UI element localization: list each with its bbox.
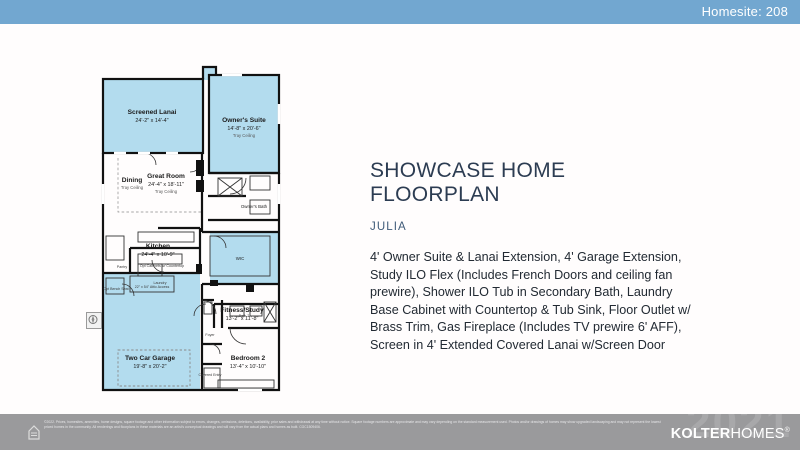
note-opt-bench-seat: Opt Bench Seat xyxy=(103,287,128,291)
room-label-kitchen: Kitchen xyxy=(146,243,170,250)
slide-content-area: Screened Lanai 24'-2" x 14'-4" Owner's S… xyxy=(0,24,800,414)
note-opt-cabinets: Opt Cabinets w/ Countertop xyxy=(140,264,184,268)
room-label-screened-lanai: Screened Lanai xyxy=(128,109,177,116)
footer-disclaimer-text: ©2022. Prices, homesites, amenities, hom… xyxy=(44,420,664,429)
compass-icon xyxy=(86,312,102,329)
room-label-two-car-garage: Two Car Garage xyxy=(125,355,175,362)
brand-light-text: HOMES xyxy=(730,426,784,442)
room-dim-owners-suite: 14'-8" x 20'-6" xyxy=(227,126,260,132)
room-label-fitness-study: Fitness/Study xyxy=(220,307,264,314)
room-label-dining: Dining xyxy=(122,177,143,184)
brand-bold-text: KOLTER xyxy=(671,426,731,442)
homesite-label: Homesite: 208 xyxy=(702,4,788,19)
equal-housing-icon xyxy=(28,422,40,442)
brand-trademark-symbol: ® xyxy=(785,427,790,434)
note-attic-access: 22" x 54" Attic Access xyxy=(135,285,170,289)
footer-bar: 2021 ©2022. Prices, homesites, amenities… xyxy=(0,414,800,450)
room-label-owners-bath: Owner's Bath xyxy=(241,204,268,209)
room-dim-bedroom-2: 13'-4" x 10'-10" xyxy=(230,364,266,370)
room-sub-owners-suite: Tray Ceiling xyxy=(233,133,256,138)
room-label-covered-entry: Covered Entry xyxy=(199,373,222,377)
room-label-bedroom-2: Bedroom 2 xyxy=(231,355,266,362)
room-label-foyer: Foyer xyxy=(205,333,215,337)
room-dim-screened-lanai: 24'-2" x 14'-4" xyxy=(135,118,168,124)
kolter-homes-logo: KOLTERHOMES® xyxy=(671,426,790,442)
floorplan-info-panel: SHOWCASE HOME FLOORPLAN JULIA 4' Owner S… xyxy=(370,159,700,354)
floorplan-drawing[interactable]: Screened Lanai 24'-2" x 14'-4" Owner's S… xyxy=(78,64,298,404)
plan-name-label: JULIA xyxy=(370,221,700,233)
room-label-pantry: Pantry xyxy=(117,265,128,269)
room-dim-kitchen: 24'-4" x 10'-9" xyxy=(141,252,174,258)
room-dim-two-car-garage: 19'-8" x 20'-2" xyxy=(133,364,166,370)
floorplan-description: 4' Owner Suite & Lanai Extension, 4' Gar… xyxy=(370,249,692,354)
room-dim-great-room: 24'-4" x 18'-11" xyxy=(148,182,184,188)
page-title: SHOWCASE HOME FLOORPLAN xyxy=(370,159,700,207)
room-sub-great-room: Tray Ceiling xyxy=(155,189,178,194)
room-label-bath-2: Bath 2 xyxy=(239,314,249,318)
room-label-great-room: Great Room xyxy=(147,173,185,180)
room-label-owners-suite: Owner's Suite xyxy=(222,117,266,124)
top-header-bar: Homesite: 208 xyxy=(0,0,800,24)
room-label-wic: WIC xyxy=(236,256,245,261)
room-sub-dining: Tray Ceiling xyxy=(121,185,144,190)
